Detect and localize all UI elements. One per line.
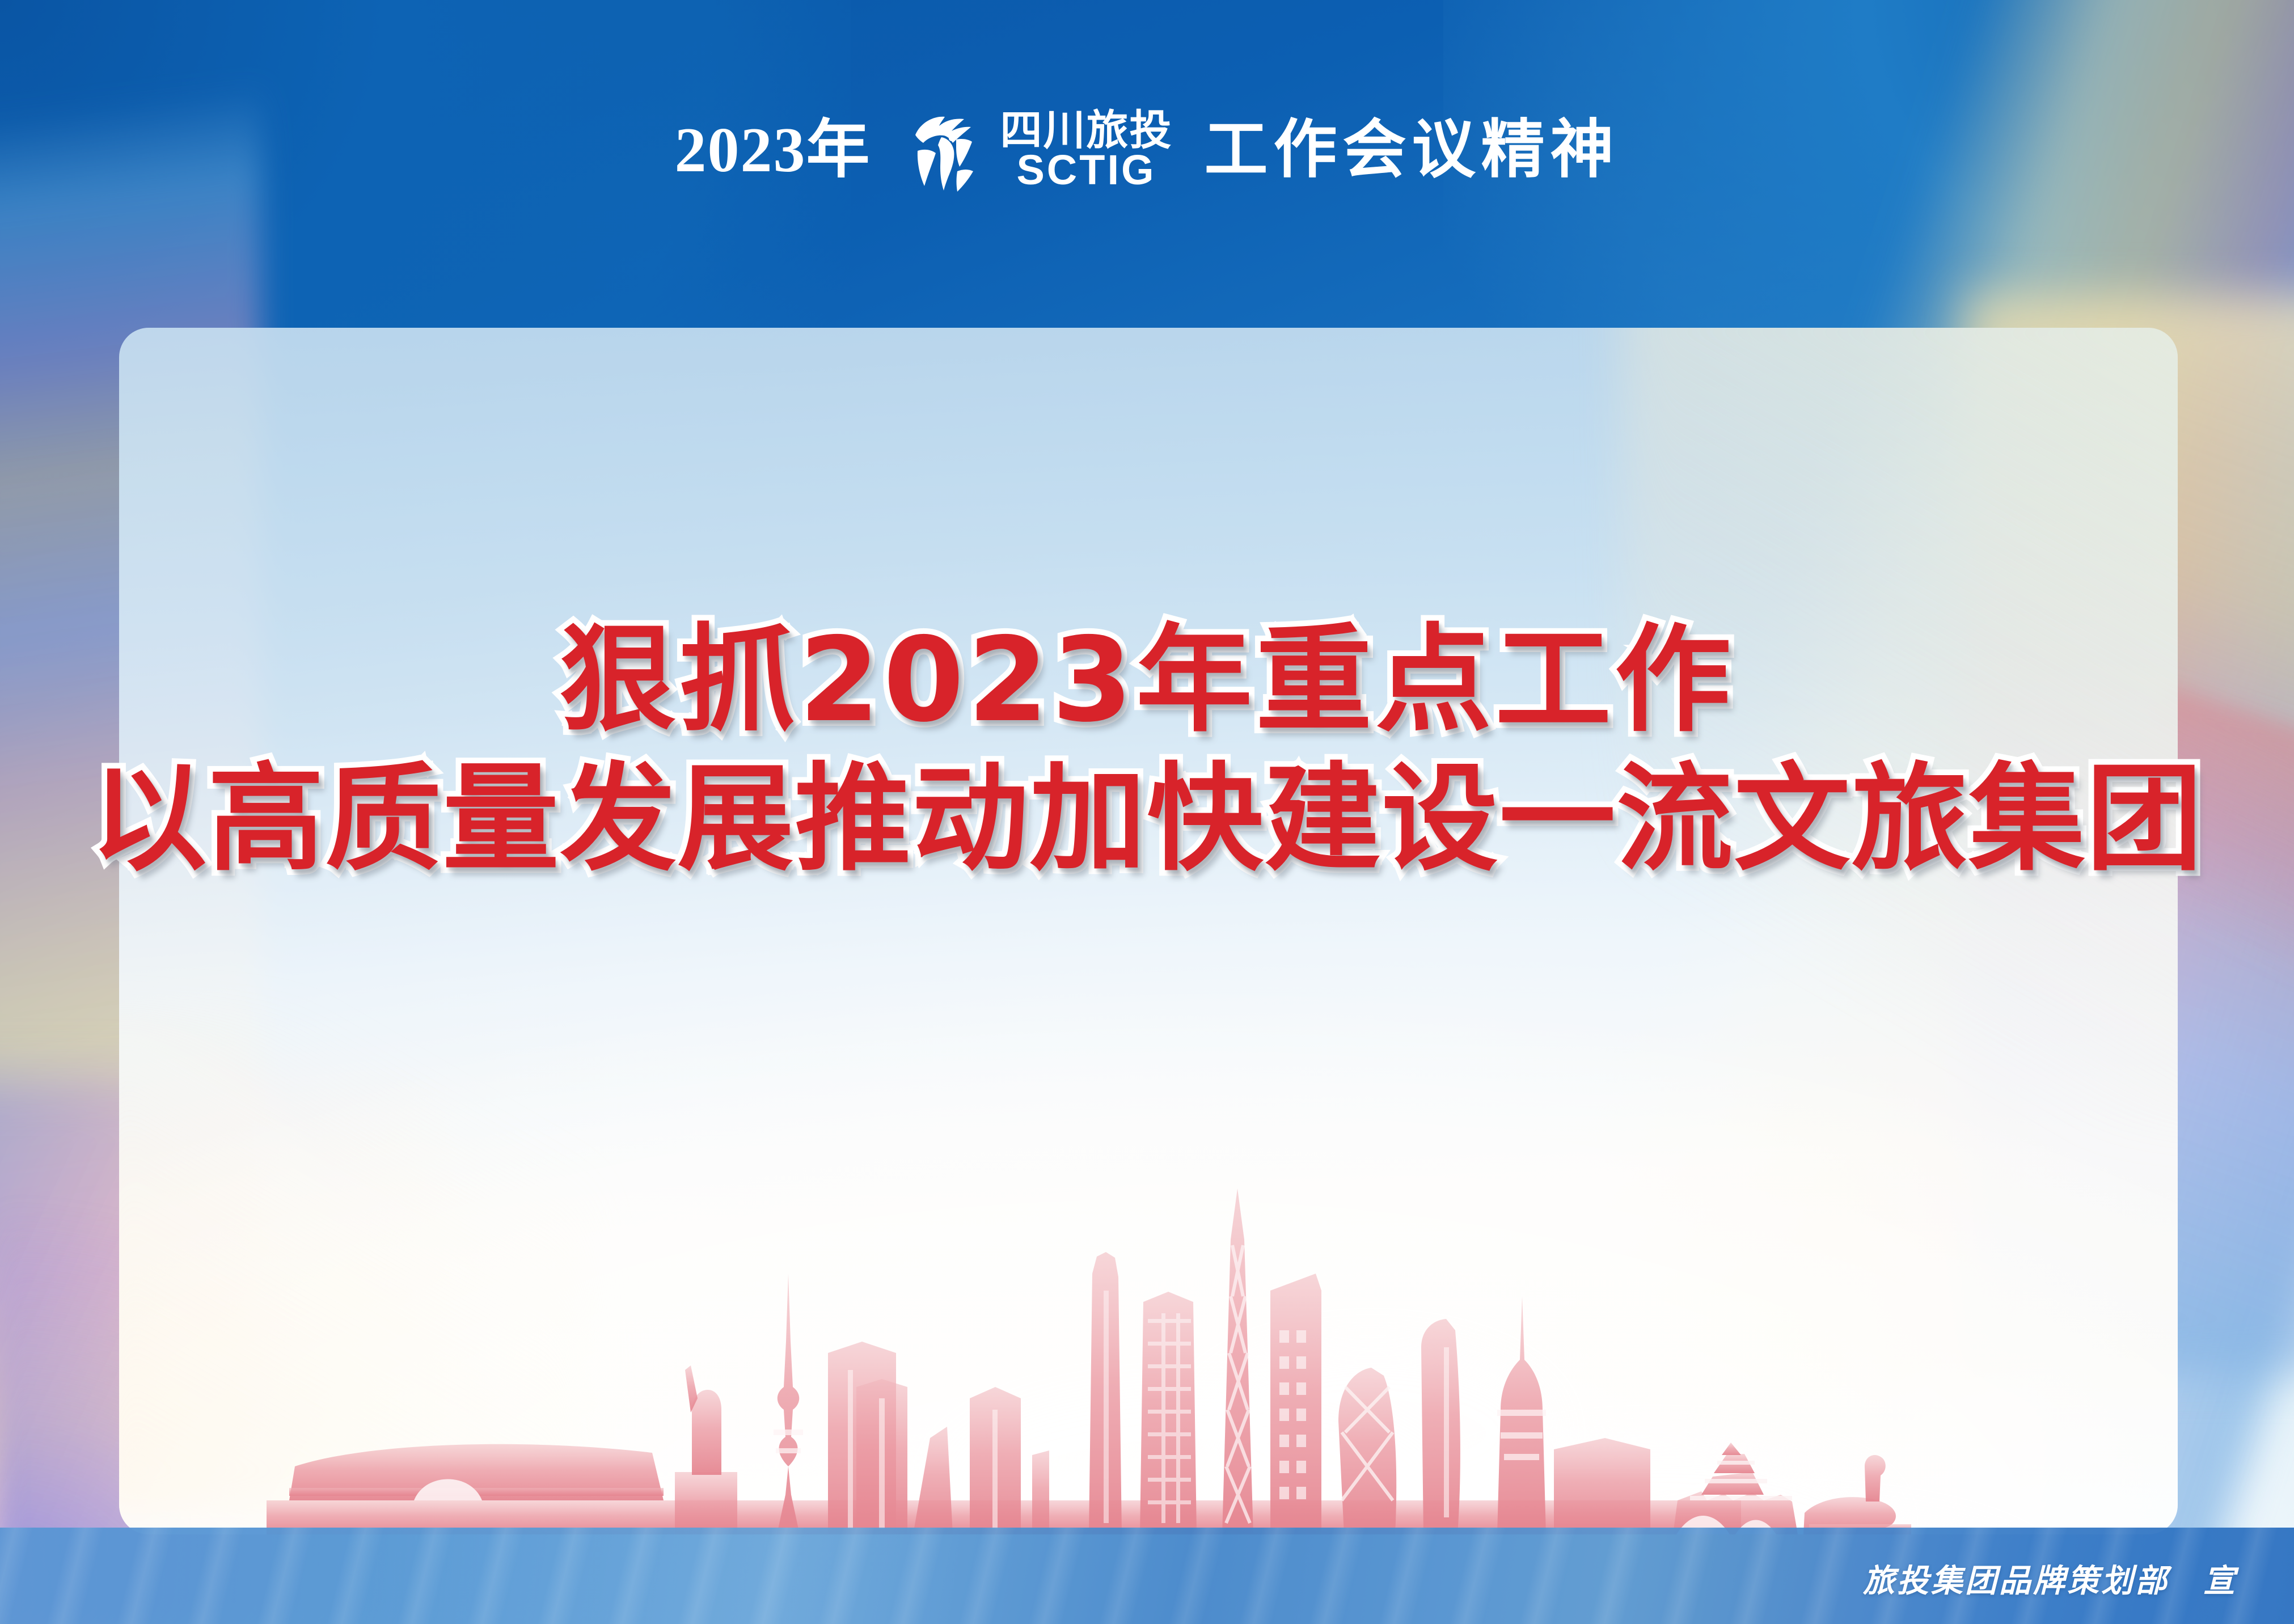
header: 2023年 四川旅投 SCTIG 工作会议精 — [0, 85, 2294, 215]
footer-credit: 旅投集团品牌策划部 宣 — [1863, 1555, 2237, 1601]
brand-logo-chinese-name: 四川旅投 — [1000, 111, 1173, 150]
content-panel — [119, 328, 2178, 1534]
city-skyline-silhouette-icon — [119, 1103, 2178, 1534]
header-year-label: 2023年 — [675, 119, 871, 182]
brand-logo-wordmark: 四川旅投 SCTIG — [1000, 111, 1173, 191]
brand-logo: 四川旅投 SCTIG — [903, 108, 1173, 193]
sctig-panda-globe-logo-icon — [903, 108, 988, 193]
poster-canvas: 2023年 四川旅投 SCTIG 工作会议精 — [0, 0, 2294, 1624]
header-subject-label: 工作会议精神 — [1205, 119, 1620, 182]
brand-logo-english-name: SCTIG — [1000, 150, 1173, 190]
